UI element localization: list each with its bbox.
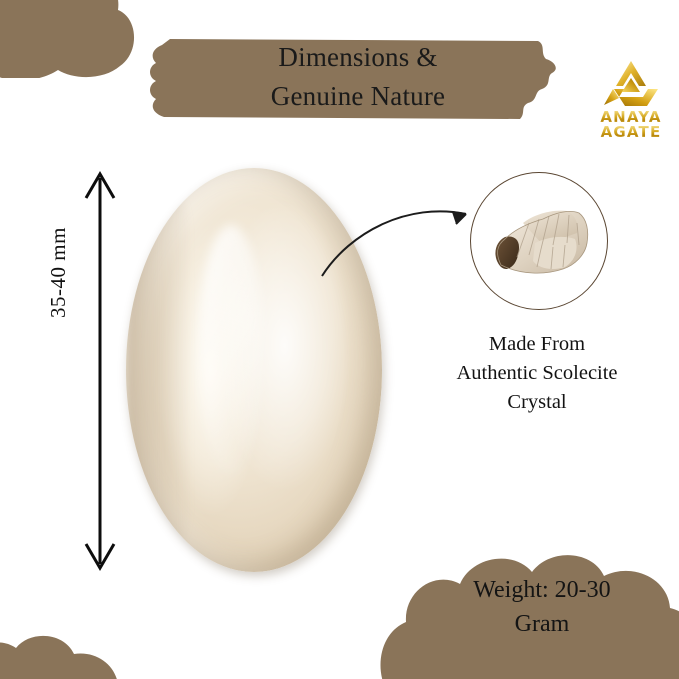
inset-caption: Made From Authentic Scolecite Crystal (406, 330, 668, 417)
dimension-arrow-icon (76, 168, 124, 574)
scolecite-crystal-image (471, 173, 607, 309)
infographic-canvas: Dimensions & Genuine Nature ANAYA (0, 0, 679, 679)
crystal-inset-circle (470, 172, 608, 310)
banner-title-line2: Genuine Nature (271, 77, 445, 116)
caption-line3: Crystal (406, 388, 668, 417)
weight-label: Weight: 20-30 Gram (420, 573, 664, 641)
decorative-cloud-bottom-left (0, 604, 140, 679)
caption-line2: Authentic Scolecite (406, 359, 668, 388)
triangle-logo-icon (602, 58, 660, 108)
dimension-label: 35-40 mm (46, 227, 71, 318)
banner-title-line1: Dimensions & (278, 38, 437, 77)
stone-shadow (126, 176, 203, 564)
decorative-cloud-top-left (0, 0, 144, 78)
curved-pointer-arrow-icon (296, 192, 496, 296)
banner-title: Dimensions & Genuine Nature (148, 27, 568, 127)
weight-line1: Weight: 20-30 (420, 573, 664, 607)
weight-line2: Gram (420, 607, 664, 641)
logo-name-line2: AGATE (600, 125, 661, 140)
stone-highlight (198, 225, 265, 475)
brand-logo: ANAYA AGATE (585, 58, 677, 162)
caption-line1: Made From (406, 330, 668, 359)
